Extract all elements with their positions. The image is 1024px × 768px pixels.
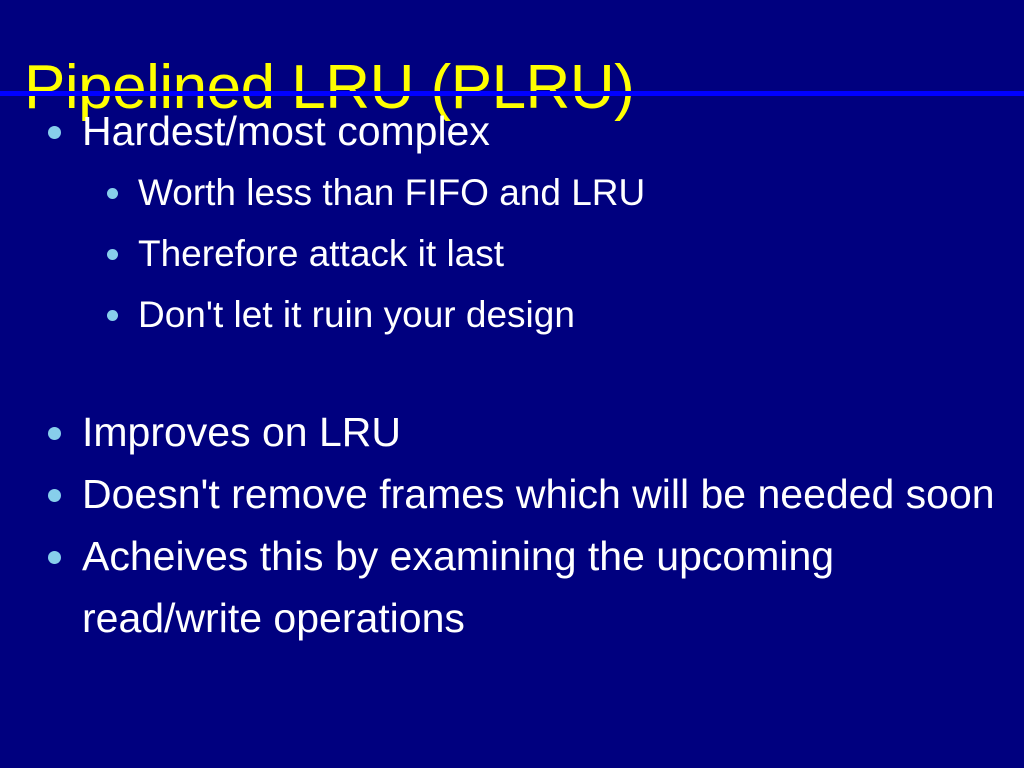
bullet-dot-icon [48,489,61,502]
bullet-label: Don't let it ruin your design [138,284,1024,345]
bullet-label: Doesn't remove frames which will be need… [82,463,1022,525]
bullet-label: Improves on LRU [82,401,1022,463]
sub-bullet-list: Worth less than FIFO and LRU Therefore a… [0,162,1024,345]
list-item: Acheives this by examining the upcoming … [0,525,1022,649]
sub-bullet-container: Worth less than FIFO and LRU Therefore a… [0,162,1024,345]
bullet-dot-icon [107,310,118,321]
group-spacer [0,345,1024,401]
list-item: Hardest/most complex [0,100,1022,162]
bullet-group-2: Improves on LRU Doesn't remove frames wh… [0,401,1024,649]
title-divider-rule [0,91,1024,96]
slide-body: Hardest/most complex Worth less than FIF… [0,100,1024,760]
bullet-label: Worth less than FIFO and LRU [138,162,1024,223]
bullet-label: Therefore attack it last [138,223,1024,284]
bullet-dot-icon [48,551,61,564]
list-item: Improves on LRU [0,401,1022,463]
bullet-label: Hardest/most complex [82,100,1022,162]
bullet-group-1: Hardest/most complex Worth less than FIF… [0,100,1024,345]
bullet-dot-icon [107,249,118,260]
bullet-label: Acheives this by examining the upcoming … [82,525,1022,649]
list-item: Worth less than FIFO and LRU [0,162,1024,223]
bullet-dot-icon [107,188,118,199]
list-item: Don't let it ruin your design [0,284,1024,345]
list-item: Doesn't remove frames which will be need… [0,463,1022,525]
bullet-dot-icon [48,427,61,440]
presentation-slide: Pipelined LRU (PLRU) Hardest/most comple… [0,0,1024,768]
list-item: Therefore attack it last [0,223,1024,284]
bullet-dot-icon [48,126,61,139]
